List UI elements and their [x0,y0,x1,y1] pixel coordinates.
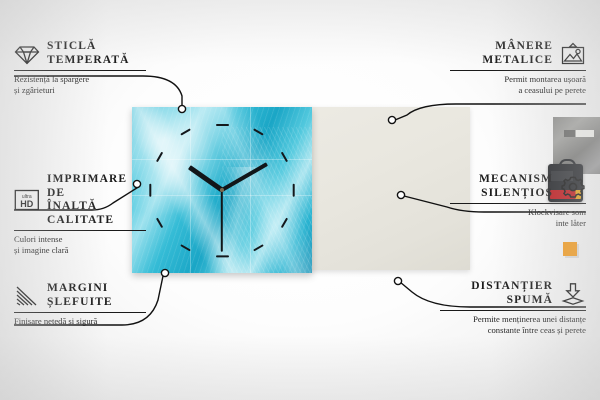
glass-reflection [250,107,251,273]
mechanism-hook-icon [559,159,576,170]
feature-foam-spacer: DISTANȚIER SPUMĂ Permite menținerea unei… [440,280,586,336]
product-image [132,107,470,273]
diamond-icon [14,42,40,66]
hanging-frame-icon [560,42,586,66]
infographic-canvas: STICLĂ TEMPERATĂ Rezistență la spargere … [0,0,600,400]
feature-silent-mechanism: MECANISM SILENȚIOS Klockvisare som inte … [450,173,586,229]
foam-spacer [563,242,577,256]
feature-subtitle: Permite menținerea unei distanțe constan… [440,314,586,335]
feature-subtitle: Klockvisare som inte låter [450,207,586,228]
gear-icon [560,175,586,199]
feature-subtitle: Culori intense și imagine clară [14,234,146,255]
divider [14,70,146,71]
arrow-down-pad-icon [560,282,586,306]
clock-tick [292,184,294,197]
feature-title: MARGINI ȘLEFUITE [47,282,113,309]
feature-high-quality-print: ultra HD IMPRIMARE DE ÎNALTĂ CALITATE Cu… [14,173,146,256]
clock-face [132,107,312,273]
feature-title: MÂNERE METALICE [482,40,553,67]
clock-back-panel [308,107,470,270]
feature-subtitle: Rezistență la spargere și zgârieturi [14,74,146,95]
clock-center-hub [220,188,224,192]
feature-title: DISTANȚIER SPUMĂ [471,280,553,307]
divider [440,310,586,311]
svg-text:HD: HD [20,199,33,209]
feature-polished-edges: MARGINI ȘLEFUITE Finisare netedă și sigu… [14,282,146,327]
divider [450,70,586,71]
feature-tempered-glass: STICLĂ TEMPERATĂ Rezistență la spargere … [14,40,146,96]
feature-metal-handles: MÂNERE METALICE Permit montarea ușoară a… [450,40,586,96]
divider [450,203,586,204]
clock-second-hand [221,190,223,252]
clock-tick [216,255,229,257]
feature-subtitle: Finisare netedă și sigură [14,316,146,327]
feature-subtitle: Permit montarea ușoară a ceasului pe per… [450,74,586,95]
ultra-hd-icon: ultra HD [14,188,40,212]
polished-edge-icon [14,284,40,308]
feature-title: IMPRIMARE DE ÎNALTĂ CALITATE [47,173,146,227]
glass-reflection [190,107,191,273]
feature-title: MECANISM SILENȚIOS [479,173,553,200]
feature-title: STICLĂ TEMPERATĂ [47,40,130,67]
divider [14,230,146,231]
divider [14,312,146,313]
